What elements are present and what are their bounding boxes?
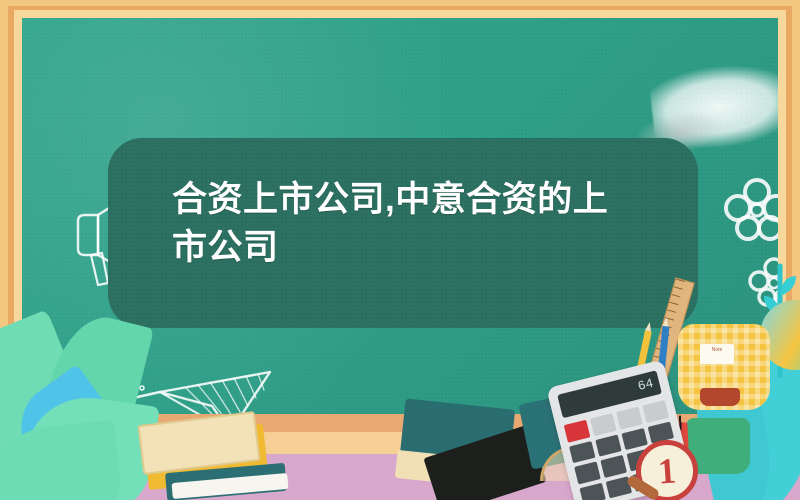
- calculator-key: [590, 413, 617, 436]
- backpack: Note: [678, 324, 770, 410]
- calculator-key: [564, 420, 591, 443]
- calculator-key: [569, 441, 596, 464]
- calculator-key: [600, 455, 627, 478]
- backpack-tag: Note: [700, 344, 734, 364]
- calculator-key: [642, 400, 669, 423]
- page-title: 合资上市公司,中意合资的上市公司: [172, 176, 642, 272]
- calculator-key: [595, 434, 622, 457]
- pencil-tip-blue-icon: [663, 317, 670, 327]
- backpack-pocket: [700, 388, 740, 406]
- flower-icon: [722, 176, 778, 246]
- calculator-key: [616, 407, 643, 430]
- banner-image: 合资上市公司,中意合资的上市公司: [0, 0, 800, 500]
- leaf-mint-front: [0, 420, 125, 500]
- calculator-key: [621, 428, 648, 451]
- calculator-key: [579, 482, 606, 500]
- calculator-key: [574, 461, 601, 484]
